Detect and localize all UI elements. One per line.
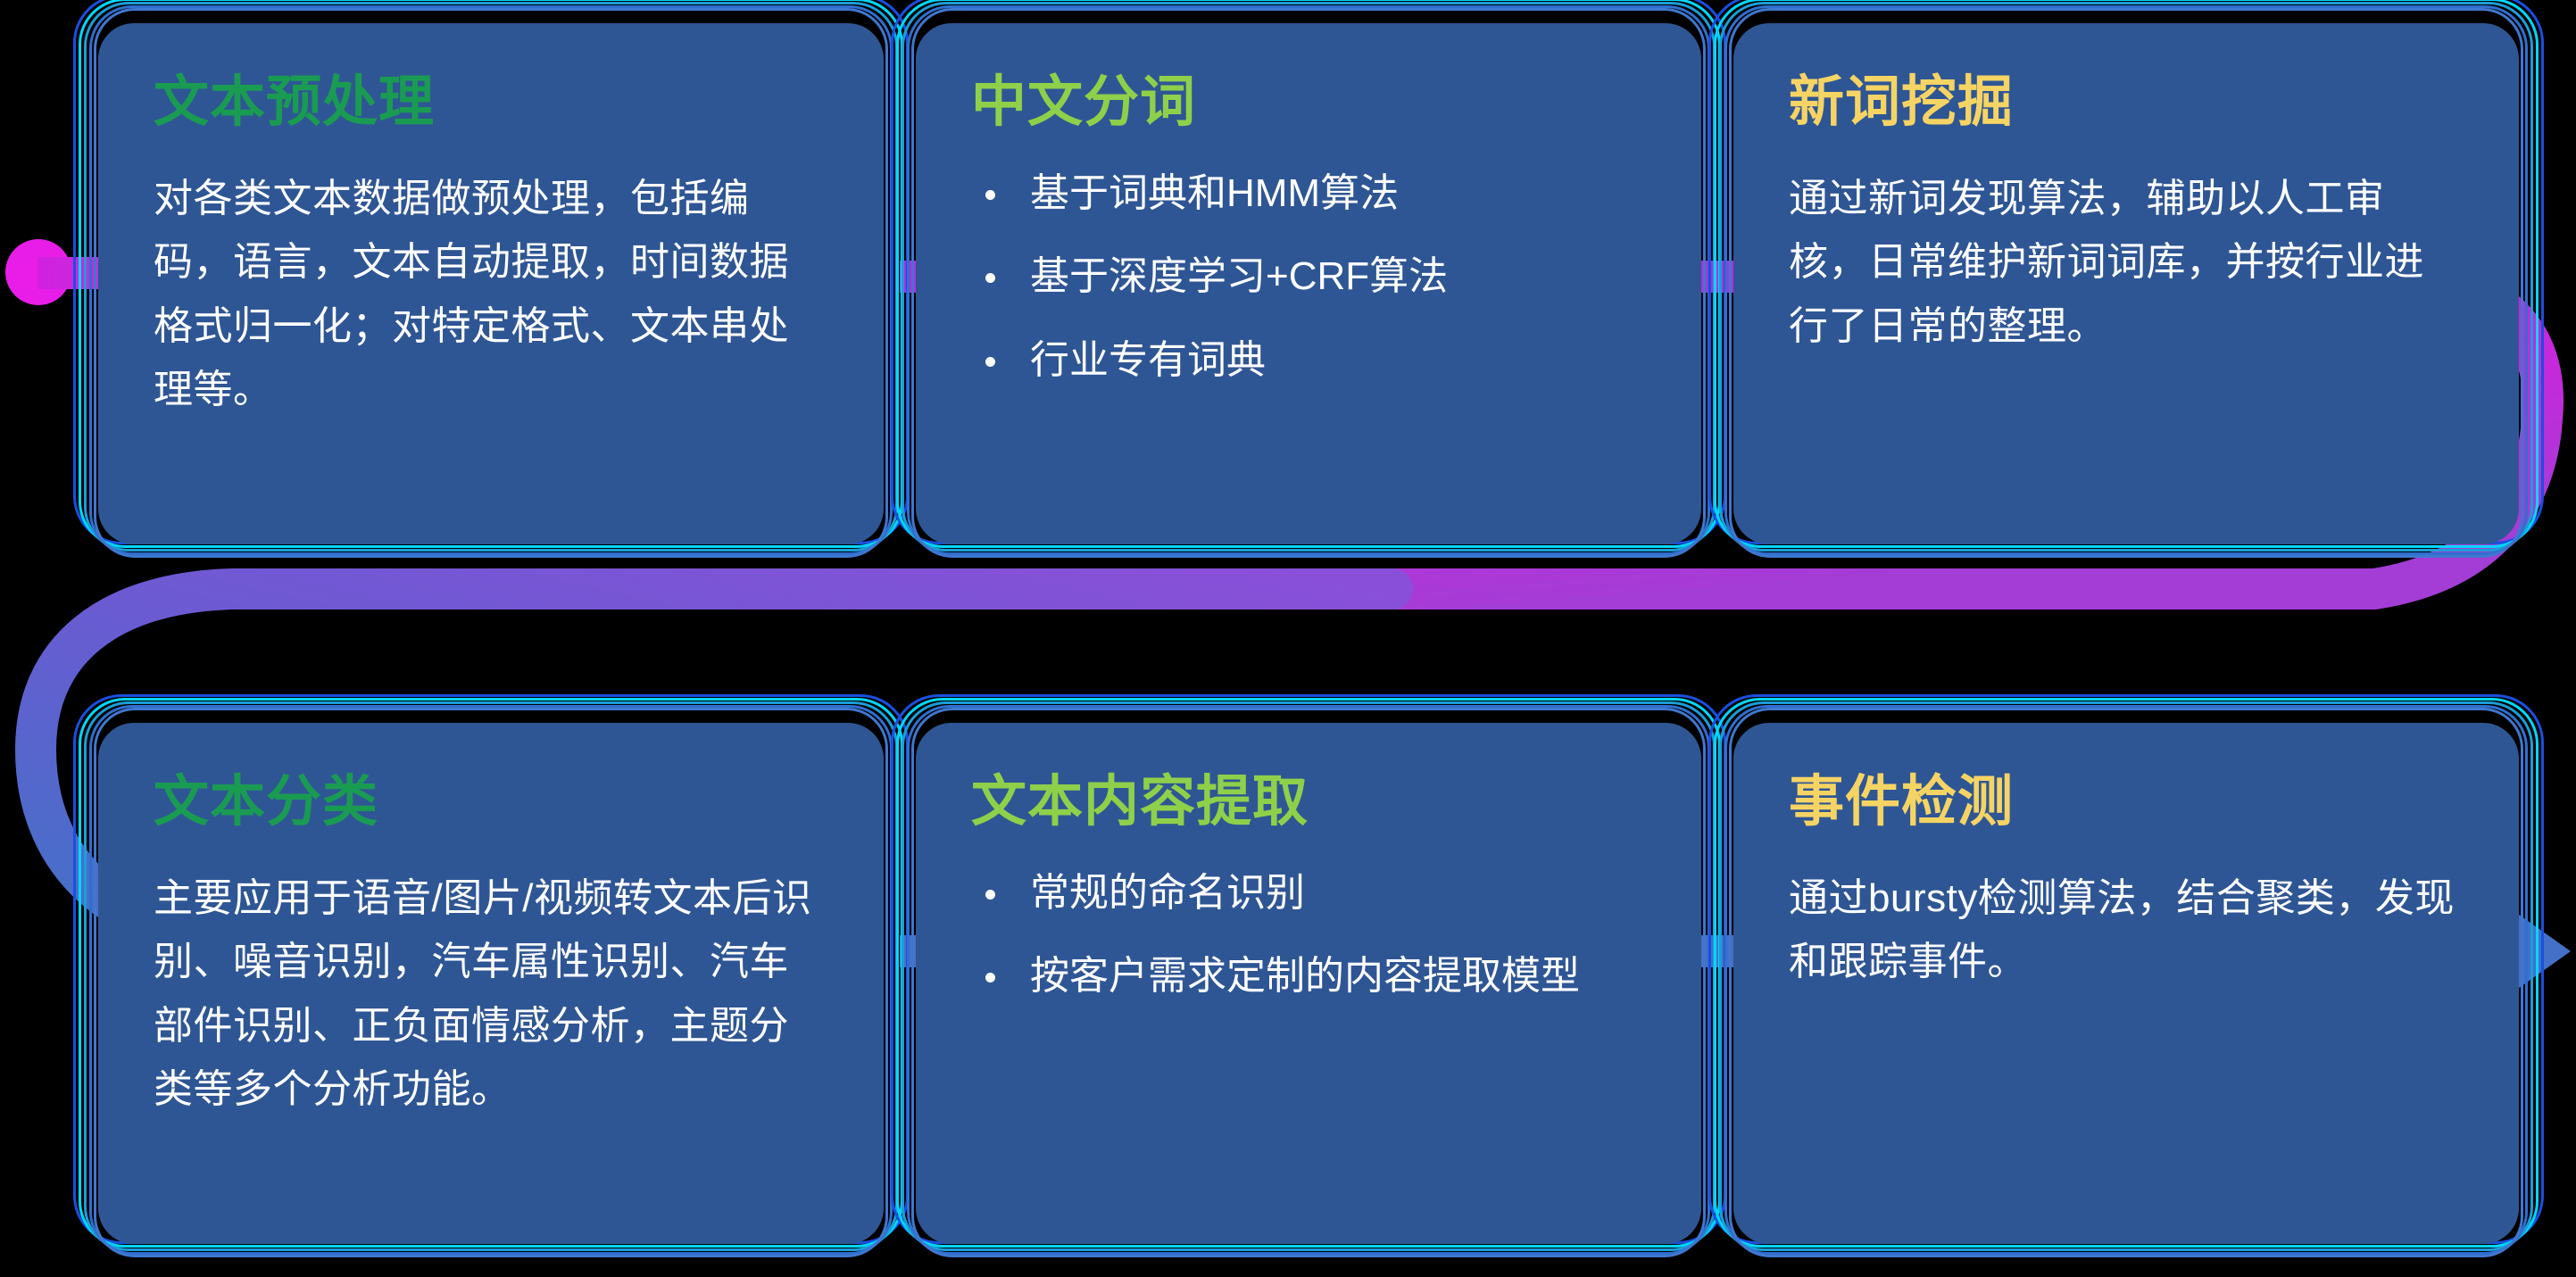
card-title: 文本预处理: [154, 73, 828, 131]
card-text-classification[interactable]: 文本分类 主要应用于语音/图片/视频转文本后识别、噪音识别，汽车属性识别、汽车部…: [98, 707, 884, 1260]
card-body-paragraph: 对各类文本数据做预处理，包括编码，语言，文本自动提取，时间数据格式归一化；对特定…: [154, 167, 828, 421]
card-surface: 文本预处理 对各类文本数据做预处理，包括编码，语言，文本自动提取，时间数据格式归…: [98, 23, 884, 544]
card-row-1: 文本预处理 对各类文本数据做预处理，包括编码，语言，文本自动提取，时间数据格式归…: [98, 7, 2519, 560]
start-dot-icon: [5, 239, 71, 305]
card-text-preprocess[interactable]: 文本预处理 对各类文本数据做预处理，包括编码，语言，文本自动提取，时间数据格式归…: [98, 7, 884, 560]
card-body-paragraph: 通过新词发现算法，辅助以人工审核，日常维护新词词库，并按行业进行了日常的整理。: [1789, 167, 2464, 358]
card-event-detection[interactable]: 事件检测 通过bursty检测算法，结合聚类，发现和跟踪事件。: [1733, 707, 2519, 1260]
diagram-canvas: 文本预处理 对各类文本数据做预处理，包括编码，语言，文本自动提取，时间数据格式归…: [0, 0, 2576, 1277]
list-item: 基于深度学习+CRF算法: [971, 250, 1646, 303]
card-title: 文本内容提取: [971, 773, 1646, 831]
card-body-paragraph: 通过bursty检测算法，结合聚类，发现和跟踪事件。: [1789, 867, 2464, 994]
card-bullet-list: 常规的命名识别 按客户需求定制的内容提取模型: [971, 867, 1646, 1003]
card-row-2: 文本分类 主要应用于语音/图片/视频转文本后识别、噪音识别，汽车属性识别、汽车部…: [98, 707, 2519, 1260]
card-title: 文本分类: [154, 773, 828, 831]
card-new-word-mining[interactable]: 新词挖掘 通过新词发现算法，辅助以人工审核，日常维护新词词库，并按行业进行了日常…: [1733, 7, 2519, 560]
card-bullet-list: 基于词典和HMM算法 基于深度学习+CRF算法 行业专有词典: [971, 167, 1646, 386]
list-item: 行业专有词典: [971, 334, 1646, 386]
card-title: 新词挖掘: [1789, 73, 2464, 131]
card-surface: 文本分类 主要应用于语音/图片/视频转文本后识别、噪音识别，汽车属性识别、汽车部…: [98, 723, 884, 1244]
list-item: 基于词典和HMM算法: [971, 167, 1646, 220]
card-content-extraction[interactable]: 文本内容提取 常规的命名识别 按客户需求定制的内容提取模型: [916, 707, 1701, 1260]
list-item: 常规的命名识别: [971, 867, 1646, 919]
card-title: 事件检测: [1789, 773, 2464, 831]
card-surface: 事件检测 通过bursty检测算法，结合聚类，发现和跟踪事件。: [1733, 723, 2519, 1244]
card-title: 中文分词: [971, 73, 1646, 131]
card-chinese-segmentation[interactable]: 中文分词 基于词典和HMM算法 基于深度学习+CRF算法 行业专有词典: [916, 7, 1701, 560]
card-surface: 中文分词 基于词典和HMM算法 基于深度学习+CRF算法 行业专有词典: [916, 23, 1701, 544]
end-arrow-icon: [2515, 912, 2571, 991]
card-body-paragraph: 主要应用于语音/图片/视频转文本后识别、噪音识别，汽车属性识别、汽车部件识别、正…: [154, 867, 828, 1121]
list-item: 按客户需求定制的内容提取模型: [971, 949, 1646, 1002]
card-surface: 新词挖掘 通过新词发现算法，辅助以人工审核，日常维护新词词库，并按行业进行了日常…: [1733, 23, 2519, 544]
card-surface: 文本内容提取 常规的命名识别 按客户需求定制的内容提取模型: [916, 723, 1701, 1244]
